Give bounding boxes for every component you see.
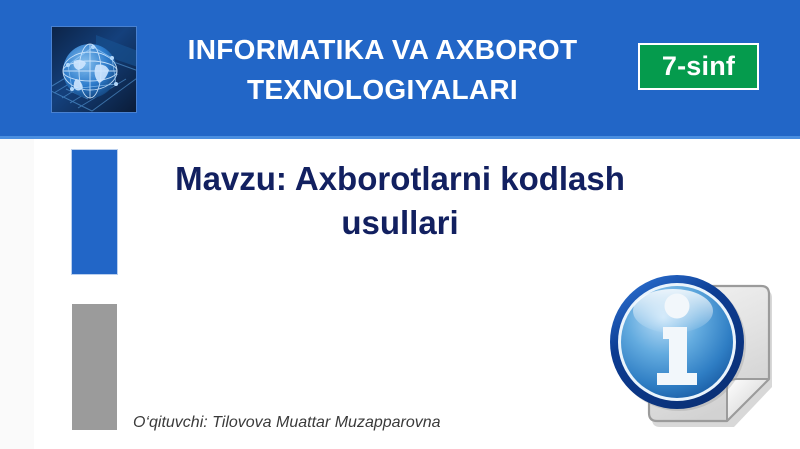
main-title-line2: usullari xyxy=(140,201,660,245)
globe-laptop-logo-icon xyxy=(52,27,136,112)
header-title-line2: TEXNOLOGIYALARI xyxy=(247,70,518,110)
grade-badge: 7-sinf xyxy=(638,43,759,90)
information-document-icon xyxy=(607,265,787,435)
slide-main-title: Mavzu: Axborotlarni kodlash usullari xyxy=(140,157,660,245)
accent-bar-blue xyxy=(72,150,117,274)
accent-bar-gray xyxy=(72,304,117,430)
left-margin-strip xyxy=(0,138,34,449)
header-band-bottom-edge xyxy=(0,136,800,139)
teacher-name-label: O‘qituvchi: Tilovova Muattar Muzapparovn… xyxy=(133,414,441,432)
presentation-slide: INFORMATIKA VA AXBOROT TEXNOLOGIYALARI 7… xyxy=(0,0,800,449)
header-title: INFORMATIKA VA AXBOROT TEXNOLOGIYALARI xyxy=(140,28,625,112)
header-title-line1: INFORMATIKA VA AXBOROT xyxy=(188,30,578,70)
main-title-line1: Mavzu: Axborotlarni kodlash xyxy=(140,157,660,201)
grade-badge-label: 7-sinf xyxy=(662,51,735,82)
